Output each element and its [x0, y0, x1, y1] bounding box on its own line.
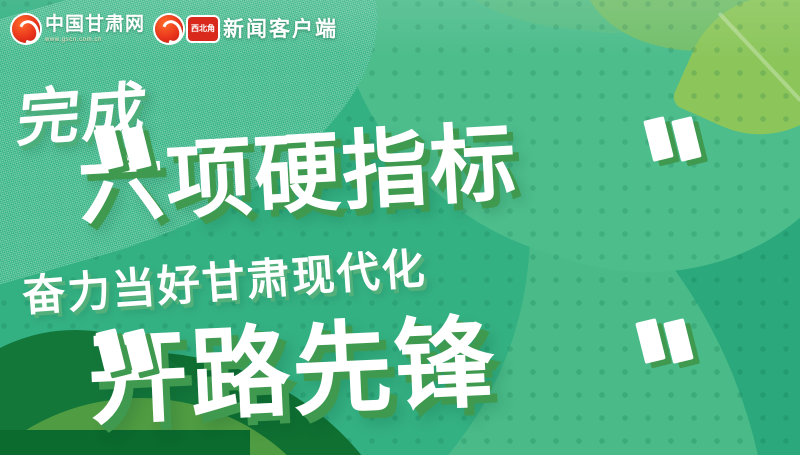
app-logo[interactable]: 西北角 新闻客户端 [155, 15, 338, 43]
branding-bar: 中国甘肃网 www.gscn.com.cn 西北角 新闻客户端 [12, 8, 338, 50]
outlet-url: www.gscn.com.cn [45, 37, 145, 43]
app-name: 新闻客户端 [223, 19, 338, 40]
quote-close-mark-line2 [648, 118, 697, 165]
app-badge-text: 西北角 [188, 17, 218, 41]
xibeiwang-seal-icon [155, 15, 183, 43]
headline-line-3: 奋力当好甘肃现代化 [21, 248, 428, 319]
gansu-daily-flame-logo-icon [12, 15, 40, 43]
outlet-logo[interactable]: 中国甘肃网 www.gscn.com.cn [12, 15, 145, 43]
headline-line-2: 六项硬指标 [76, 120, 520, 230]
quote-close-mark-line4 [640, 320, 689, 367]
outlet-name: 中国甘肃网 [45, 15, 145, 34]
poster-canvas: 中国甘肃网 www.gscn.com.cn 西北角 新闻客户端 完成 六项硬指标… [0, 0, 800, 455]
headline-block: 完成 六项硬指标 奋力当好甘肃现代化 开路先锋 [0, 0, 800, 455]
outlet-logo-text: 中国甘肃网 www.gscn.com.cn [45, 15, 145, 43]
headline-line-4: 开路先锋 [86, 313, 498, 431]
